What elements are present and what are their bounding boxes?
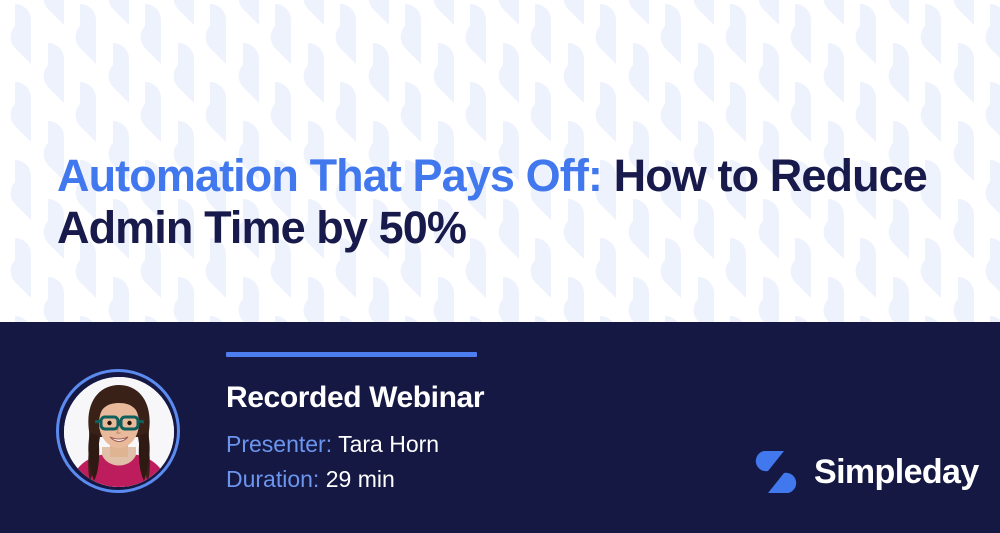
info-text-group: Recorded Webinar Presenter: Tara Horn Du… bbox=[226, 352, 726, 499]
avatar bbox=[56, 369, 180, 493]
presenter-label: Presenter: bbox=[226, 431, 332, 457]
headline-block: Automation That Pays Off: How to Reduce … bbox=[57, 150, 937, 254]
page-title-accent: Automation That Pays Off: bbox=[57, 150, 602, 201]
duration-line: Duration: 29 min bbox=[226, 464, 726, 494]
content-type-label: Recorded Webinar bbox=[226, 381, 726, 415]
webinar-promo-banner: Automation That Pays Off: How to Reduce … bbox=[0, 0, 1000, 533]
accent-rule bbox=[226, 352, 477, 357]
duration-value: 29 min bbox=[319, 466, 394, 492]
presenter-line: Presenter: Tara Horn bbox=[226, 429, 726, 459]
avatar-photo bbox=[64, 377, 174, 487]
simpleday-wordmark: Simpleday bbox=[814, 455, 979, 489]
title-area: Automation That Pays Off: How to Reduce … bbox=[0, 0, 1000, 322]
page-title: Automation That Pays Off: How to Reduce … bbox=[57, 150, 937, 254]
simpleday-droplet-mark-icon bbox=[752, 450, 800, 494]
presenter-value: Tara Horn bbox=[332, 431, 439, 457]
duration-label: Duration: bbox=[226, 466, 319, 492]
simpleday-logo: Simpleday bbox=[752, 449, 979, 495]
